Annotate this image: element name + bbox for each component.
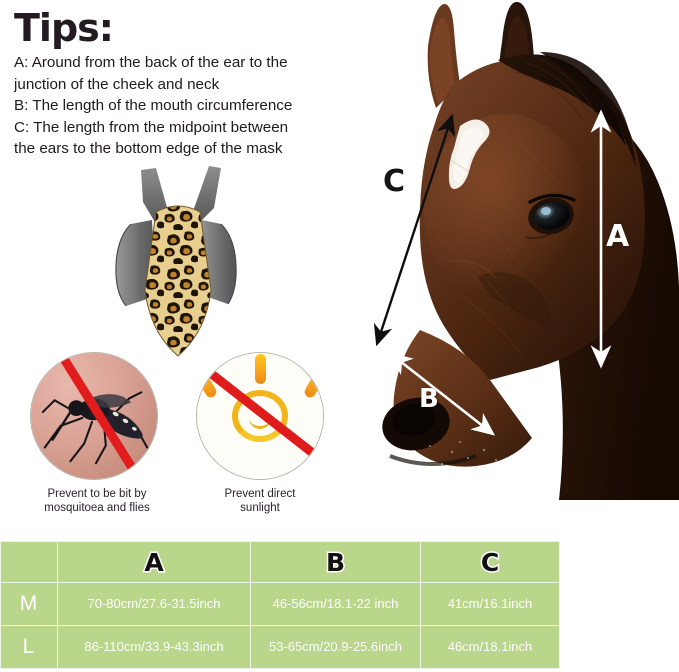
table-header-b: B [251,542,421,583]
tips-line-4: C: The length from the midpoint between [14,117,344,139]
cell-m-b: 46-56cm/18.1-22 inch [251,583,421,626]
table-header-a-label: A [144,548,163,577]
horse-head-photo [330,0,679,500]
cell-l-b-value: 53-65cm/20.9-25.6inch [269,639,402,654]
tips-line-1: A: Around from the back of the ear to th… [14,52,344,74]
table-header-b-label: B [326,548,345,577]
table-header-c-label: C [481,548,499,577]
feature-mosquito-caption-line1: Prevent to be bit by [47,488,146,500]
cell-m-b-value: 46-56cm/18.1-22 inch [273,596,399,611]
cell-m-a: 70-80cm/27.6-31.5inch [58,583,251,626]
table-header-size [1,542,58,583]
cell-m-c: 41cm/16.1inch [421,583,560,626]
cell-l-c: 46cm/18.1inch [421,626,560,669]
size-label-l: L [23,635,36,658]
row-size-m: M [1,583,58,626]
cell-l-a-value: 86-110cm/33.9-43.3inch [84,639,223,654]
sun-no-entry-icon [196,352,324,480]
feature-sunlight-caption-line1: Prevent direct [225,488,296,500]
feature-mosquito: Prevent to be bit by mosquitoea and flie… [30,352,170,515]
product-size-guide-page: Tips: A: Around from the back of the ear… [0,0,679,672]
tips-line-3: B: The length of the mouth circumference [14,95,344,117]
feature-sunlight: Prevent direct sunlight [196,352,336,515]
cell-m-a-value: 70-80cm/27.6-31.5inch [88,596,221,611]
feature-mosquito-caption: Prevent to be bit by mosquitoea and flie… [30,488,164,515]
tips-block: Tips: A: Around from the back of the ear… [14,6,344,160]
fly-mask-illustration [96,162,256,362]
row-size-l: L [1,626,58,669]
page-title: Tips: [14,6,344,50]
size-label-m: M [20,592,39,615]
feature-sunlight-caption-line2: sunlight [240,502,280,514]
feature-mosquito-caption-line2: mosquitoea and flies [44,502,149,514]
table-row: M 70-80cm/27.6-31.5inch 46-56cm/18.1-22 … [1,583,560,626]
tips-line-2: junction of the cheek and neck [14,74,344,96]
size-chart-table: A B C M 70-80cm/27.6-31.5inch 46-56c [0,541,560,669]
feature-sunlight-caption: Prevent direct sunlight [196,488,324,515]
cell-l-c-value: 46cm/18.1inch [448,639,533,654]
table-header-row: A B C [1,542,560,583]
mosquito-no-entry-icon [30,352,158,480]
tips-line-5: the ears to the bottom edge of the mask [14,138,344,160]
cell-l-a: 86-110cm/33.9-43.3inch [58,626,251,669]
table-row: L 86-110cm/33.9-43.3inch 53-65cm/20.9-25… [1,626,560,669]
table-header-a: A [58,542,251,583]
cell-m-c-value: 41cm/16.1inch [448,596,533,611]
table-header-c: C [421,542,560,583]
cell-l-b: 53-65cm/20.9-25.6inch [251,626,421,669]
